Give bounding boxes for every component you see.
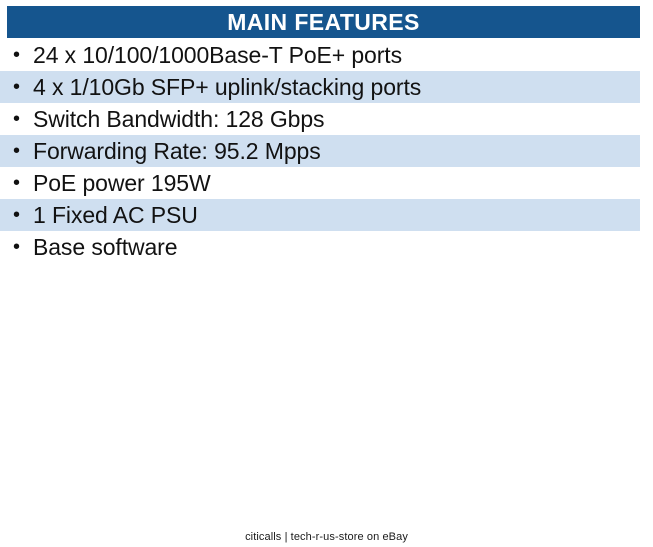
- bullet-icon: •: [0, 199, 33, 231]
- feature-item-label: Switch Bandwidth: 128 Gbps: [33, 103, 324, 135]
- bullet-icon: •: [0, 103, 33, 135]
- feature-row: •24 x 10/100/1000Base-T PoE+ ports: [0, 39, 640, 71]
- feature-item-label: 24 x 10/100/1000Base-T PoE+ ports: [33, 39, 402, 71]
- page-title: MAIN FEATURES: [227, 11, 420, 34]
- seller-watermark-text: citicalls | tech-r-us-store on eBay: [245, 531, 408, 543]
- features-list: •24 x 10/100/1000Base-T PoE+ ports•4 x 1…: [0, 39, 653, 263]
- feature-item-label: PoE power 195W: [33, 167, 211, 199]
- feature-item-label: Base software: [33, 231, 177, 263]
- main-features-header: MAIN FEATURES: [7, 6, 640, 38]
- feature-item-label: 1 Fixed AC PSU: [33, 199, 198, 231]
- spec-sheet: MAIN FEATURES •24 x 10/100/1000Base-T Po…: [0, 0, 653, 547]
- feature-row: •Base software: [0, 231, 640, 263]
- bullet-icon: •: [0, 135, 33, 167]
- feature-item-label: Forwarding Rate: 95.2 Mpps: [33, 135, 321, 167]
- feature-row: •Forwarding Rate: 95.2 Mpps: [0, 135, 640, 167]
- bullet-icon: •: [0, 231, 33, 263]
- feature-row: •4 x 1/10Gb SFP+ uplink/stacking ports: [0, 71, 640, 103]
- feature-row: •1 Fixed AC PSU: [0, 199, 640, 231]
- feature-item-label: 4 x 1/10Gb SFP+ uplink/stacking ports: [33, 71, 421, 103]
- feature-row: •PoE power 195W: [0, 167, 640, 199]
- bullet-icon: •: [0, 39, 33, 71]
- footer-watermark: citicalls | tech-r-us-store on eBay: [0, 527, 653, 545]
- feature-row: •Switch Bandwidth: 128 Gbps: [0, 103, 640, 135]
- bullet-icon: •: [0, 71, 33, 103]
- bullet-icon: •: [0, 167, 33, 199]
